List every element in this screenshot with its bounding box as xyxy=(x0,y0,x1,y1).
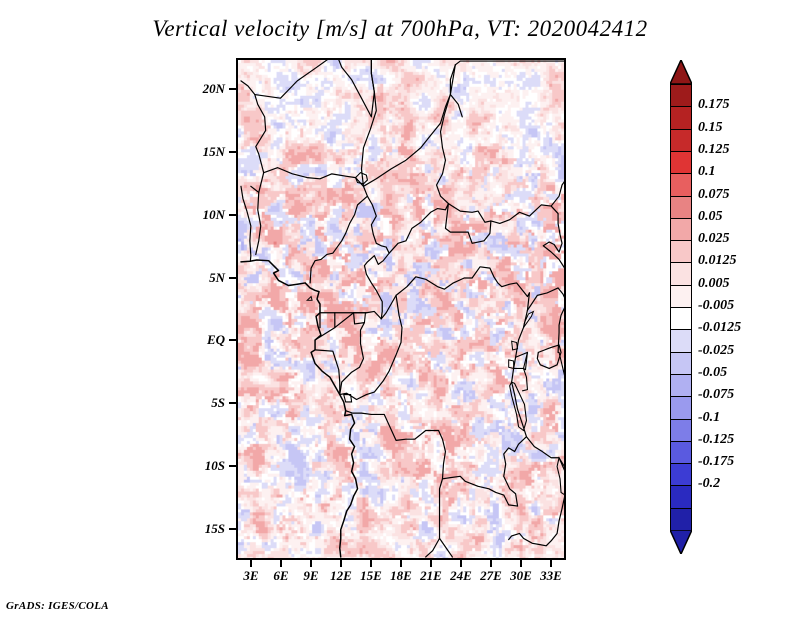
colorbar-tick-label: -0.0125 xyxy=(698,320,784,336)
colorbar-band xyxy=(670,84,692,108)
y-axis-label: 10N xyxy=(165,207,225,223)
y-axis-tick xyxy=(229,528,236,530)
x-axis-tick xyxy=(370,560,372,567)
map-plot-area xyxy=(236,58,566,560)
y-axis-tick xyxy=(229,465,236,467)
colorbar-tick-label: 0.0125 xyxy=(698,253,784,269)
colorbar-tick-label: -0.005 xyxy=(698,298,784,314)
y-axis-tick xyxy=(229,277,236,279)
colorbar-band xyxy=(670,485,692,509)
y-axis-label: 10S xyxy=(165,458,225,474)
colorbar-tick-label: -0.175 xyxy=(698,454,784,470)
x-axis-tick xyxy=(490,560,492,567)
colorbar-band xyxy=(670,463,692,487)
colorbar-band xyxy=(670,106,692,130)
colorbar-tick-label: -0.125 xyxy=(698,432,784,448)
colorbar-tick-label: -0.2 xyxy=(698,476,784,492)
x-axis-tick xyxy=(400,560,402,567)
colorbar-band xyxy=(670,129,692,153)
colorbar-band xyxy=(670,307,692,331)
y-axis-label: 5S xyxy=(165,395,225,411)
y-axis-label: 15N xyxy=(165,144,225,160)
colorbar-tick-label: 0.175 xyxy=(698,97,784,113)
y-axis-tick xyxy=(229,339,236,341)
y-axis-tick xyxy=(229,88,236,90)
x-axis-tick xyxy=(520,560,522,567)
colorbar-tick-label: -0.025 xyxy=(698,343,784,359)
colorbar-tick-label: 0.1 xyxy=(698,164,784,180)
colorbar-tick-label: 0.025 xyxy=(698,231,784,247)
x-axis-tick xyxy=(460,560,462,567)
colorbar-bottom-arrow xyxy=(670,530,692,554)
colorbar-band xyxy=(670,352,692,376)
y-axis-label: 15S xyxy=(165,521,225,537)
colorbar-band xyxy=(670,508,692,532)
grads-footer: GrADS: IGES/COLA xyxy=(6,600,109,612)
colorbar-tick-label: -0.075 xyxy=(698,387,784,403)
colorbar-band xyxy=(670,396,692,420)
y-axis-label: EQ xyxy=(165,332,225,348)
colorbar-band xyxy=(670,374,692,398)
y-axis-tick xyxy=(229,151,236,153)
x-axis-tick xyxy=(430,560,432,567)
colorbar-tick-label: 0.075 xyxy=(698,187,784,203)
colorbar-band xyxy=(670,173,692,197)
colorbar-band xyxy=(670,151,692,175)
colorbar-band xyxy=(670,329,692,353)
x-axis-tick xyxy=(280,560,282,567)
colorbar-band xyxy=(670,262,692,286)
y-axis-label: 20N xyxy=(165,81,225,97)
colorbar-tick-label: 0.15 xyxy=(698,120,784,136)
x-axis-tick xyxy=(310,560,312,567)
y-axis-tick xyxy=(229,402,236,404)
colorbar-tick-label: 0.05 xyxy=(698,209,784,225)
colorbar: 0.1750.150.1250.10.0750.050.0250.01250.0… xyxy=(668,58,788,558)
colorbar-tick-label: -0.1 xyxy=(698,410,784,426)
x-axis-tick xyxy=(550,560,552,567)
x-axis-label: 33E xyxy=(529,568,573,584)
colorbar-band xyxy=(670,285,692,309)
colorbar-band xyxy=(670,419,692,443)
colorbar-tick-label: 0.005 xyxy=(698,276,784,292)
colorbar-top-arrow xyxy=(670,60,692,84)
page-title: Vertical velocity [m/s] at 700hPa, VT: 2… xyxy=(0,16,800,42)
colorbar-tick-label: -0.05 xyxy=(698,365,784,381)
x-axis-tick xyxy=(250,560,252,567)
colorbar-band xyxy=(670,441,692,465)
colorbar-band xyxy=(670,240,692,264)
map-borders-overlay xyxy=(238,60,564,558)
colorbar-tick-label: 0.125 xyxy=(698,142,784,158)
y-axis-tick xyxy=(229,214,236,216)
colorbar-band xyxy=(670,218,692,242)
y-axis-label: 5N xyxy=(165,270,225,286)
colorbar-band xyxy=(670,196,692,220)
x-axis-tick xyxy=(340,560,342,567)
